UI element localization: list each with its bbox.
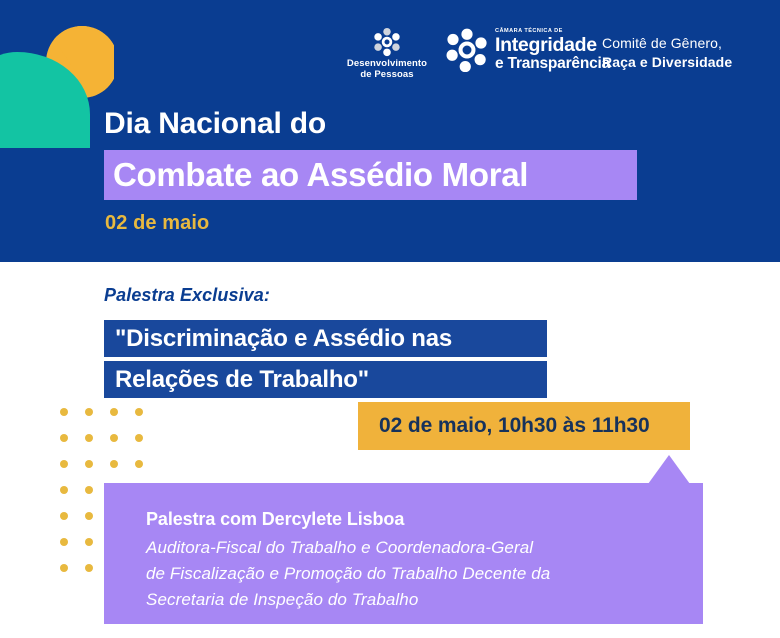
event-poster: Desenvolvimento de Pessoas <box>0 0 780 638</box>
gear-network-icon <box>332 26 442 58</box>
molecule-network-icon <box>446 28 488 72</box>
logo-row: Desenvolvimento de Pessoas <box>330 26 760 90</box>
speaker-role-line2: de Fiscalização e Promoção do Trabalho D… <box>146 561 686 587</box>
dot <box>60 460 68 468</box>
dot <box>110 408 118 416</box>
logo-it-text: CÂMARA TÉCNICA DE Integridade e Transpar… <box>495 28 610 72</box>
dot <box>85 564 93 572</box>
dot <box>85 486 93 494</box>
dot <box>110 460 118 468</box>
logo-comite-genero-raca-diversidade: Comitê de Gênero, Raça e Diversidade <box>602 34 762 72</box>
lecture-kicker: Palestra Exclusiva: <box>104 285 270 306</box>
dot <box>60 486 68 494</box>
person-silhouette-icon <box>0 22 114 148</box>
dot <box>135 460 143 468</box>
lecture-title-line1: "Discriminação e Assédio nas <box>104 325 452 353</box>
dot <box>85 460 93 468</box>
dot <box>60 408 68 416</box>
logo-dp-line2: de Pessoas <box>332 69 442 80</box>
speaker-card: Palestra com Dercylete Lisboa Auditora-F… <box>104 483 703 624</box>
poster-title-line1: Dia Nacional do <box>104 106 326 142</box>
dot <box>60 564 68 572</box>
poster-header: Desenvolvimento de Pessoas <box>0 0 780 262</box>
lecture-title-box-1: "Discriminação e Assédio nas <box>104 320 547 357</box>
logo-cg-line2: Raça e Diversidade <box>602 53 762 72</box>
poster-title-highlight: Combate ao Assédio Moral <box>104 150 637 200</box>
dot <box>85 538 93 546</box>
dot <box>60 434 68 442</box>
dot <box>60 512 68 520</box>
poster-title-line2: Combate ao Assédio Moral <box>104 156 528 194</box>
logo-it-line2: e Transparência <box>495 55 610 72</box>
speaker-name: Palestra com Dercylete Lisboa <box>146 509 404 530</box>
lecture-title-box-2: Relações de Trabalho" <box>104 361 547 398</box>
dot <box>110 434 118 442</box>
dot <box>135 434 143 442</box>
dot <box>135 408 143 416</box>
speaker-role-line1: Auditora-Fiscal do Trabalho e Coordenado… <box>146 535 686 561</box>
logo-it-line1: Integridade <box>495 35 610 55</box>
logo-dp-line1: Desenvolvimento <box>332 58 442 69</box>
logo-desenvolvimento-de-pessoas: Desenvolvimento de Pessoas <box>332 26 442 80</box>
speaker-role: Auditora-Fiscal do Trabalho e Coordenado… <box>146 535 686 613</box>
lecture-title-line2: Relações de Trabalho" <box>104 366 369 394</box>
dot <box>85 408 93 416</box>
speaker-role-line3: Secretaria de Inspeção do Trabalho <box>146 587 686 613</box>
dot <box>85 434 93 442</box>
schedule-text: 02 de maio, 10h30 às 11h30 <box>358 414 650 438</box>
speaker-card-pointer-icon <box>648 455 690 484</box>
poster-header-date: 02 de maio <box>105 212 209 235</box>
dot <box>60 538 68 546</box>
dot <box>85 512 93 520</box>
schedule-badge: 02 de maio, 10h30 às 11h30 <box>358 402 690 450</box>
logo-cg-line1: Comitê de Gênero, <box>602 34 762 53</box>
